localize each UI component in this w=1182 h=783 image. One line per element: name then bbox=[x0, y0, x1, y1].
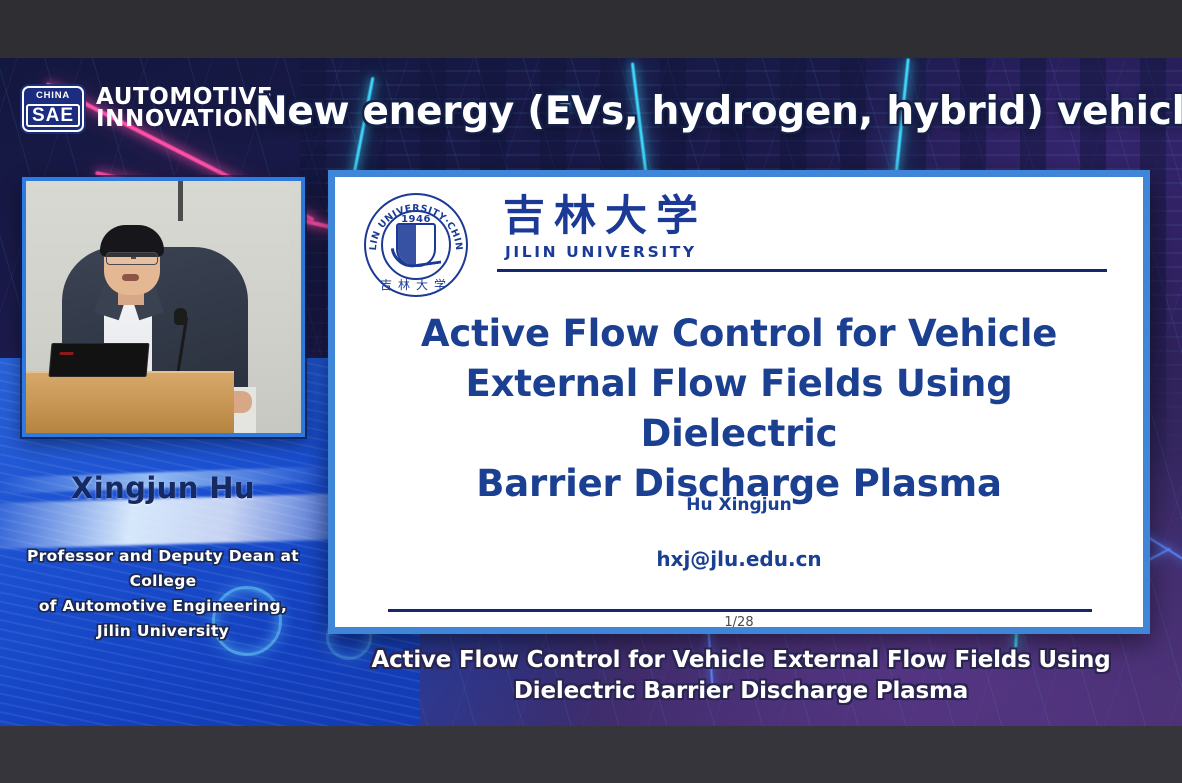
presentation-slide: JILIN UNIVERSITY·CHINA 1946 吉林大学 吉林大学 JI… bbox=[335, 177, 1143, 627]
seal-chinese-name: 吉林大学 bbox=[364, 276, 468, 293]
slide-page-number: 1/28 bbox=[371, 615, 1107, 630]
slide-email[interactable]: hxj@jlu.edu.cn bbox=[371, 547, 1107, 571]
caption-line1: Active Flow Control for Vehicle External… bbox=[300, 645, 1182, 676]
microphone-icon bbox=[174, 308, 187, 325]
university-name-english: JILIN UNIVERSITY bbox=[505, 243, 697, 261]
broadcast-screen: CHINA SAE CHINA SAE AUTOMOTIVE INNOVATIO… bbox=[0, 0, 1182, 783]
slide-title-line1: Active Flow Control for Vehicle bbox=[371, 309, 1107, 359]
speaker-video-feed[interactable] bbox=[22, 177, 305, 437]
china-sae-badge-icon: CHINA SAE bbox=[22, 86, 84, 132]
presentation-slide-frame[interactable]: JILIN UNIVERSITY·CHINA 1946 吉林大学 吉林大学 JI… bbox=[328, 170, 1150, 634]
speaker-role: Professor and Deputy Dean at College of … bbox=[0, 544, 326, 644]
letterbox-top bbox=[0, 0, 1182, 58]
speaker-glasses bbox=[106, 252, 158, 265]
podium bbox=[22, 371, 234, 433]
lower-third-caption: Active Flow Control for Vehicle External… bbox=[300, 645, 1182, 707]
logo-wordmark: AUTOMOTIVE INNOVATION bbox=[96, 87, 273, 130]
slide-footer-rule bbox=[388, 609, 1092, 612]
automotive-innovation-logo: CHINA SAE AUTOMOTIVE INNOVATION bbox=[22, 86, 273, 132]
slide-title-line2: External Flow Fields Using Dielectric bbox=[371, 359, 1107, 459]
speaker-role-line2: of Automotive Engineering, bbox=[0, 594, 326, 619]
speaker-role-line3: Jilin University bbox=[0, 619, 326, 644]
speaker-mouth bbox=[122, 274, 139, 281]
china-sae-badge-bottom-label: SAE bbox=[26, 104, 80, 127]
speaker-name: Xingjun Hu bbox=[0, 471, 326, 505]
logo-wordmark-line2: INNOVATION bbox=[96, 109, 273, 131]
speaker-role-line1: Professor and Deputy Dean at College bbox=[0, 544, 326, 594]
laptop-icon bbox=[49, 343, 150, 377]
university-name-chinese: 吉林大学 bbox=[503, 195, 707, 237]
video-wall-edge bbox=[178, 181, 183, 221]
slide-header-rule bbox=[497, 269, 1107, 272]
china-sae-badge-top-label: CHINA bbox=[36, 91, 70, 101]
session-title: New energy (EVs, hydrogen, hybrid) vehic… bbox=[255, 80, 1160, 142]
slide-author: Hu Xingjun bbox=[371, 495, 1107, 515]
caption-line2: Dielectric Barrier Discharge Plasma bbox=[300, 676, 1182, 707]
slide-title: Active Flow Control for Vehicle External… bbox=[371, 309, 1107, 509]
jilin-university-seal-icon: JILIN UNIVERSITY·CHINA 1946 吉林大学 bbox=[364, 193, 468, 297]
letterbox-bottom bbox=[0, 726, 1182, 783]
